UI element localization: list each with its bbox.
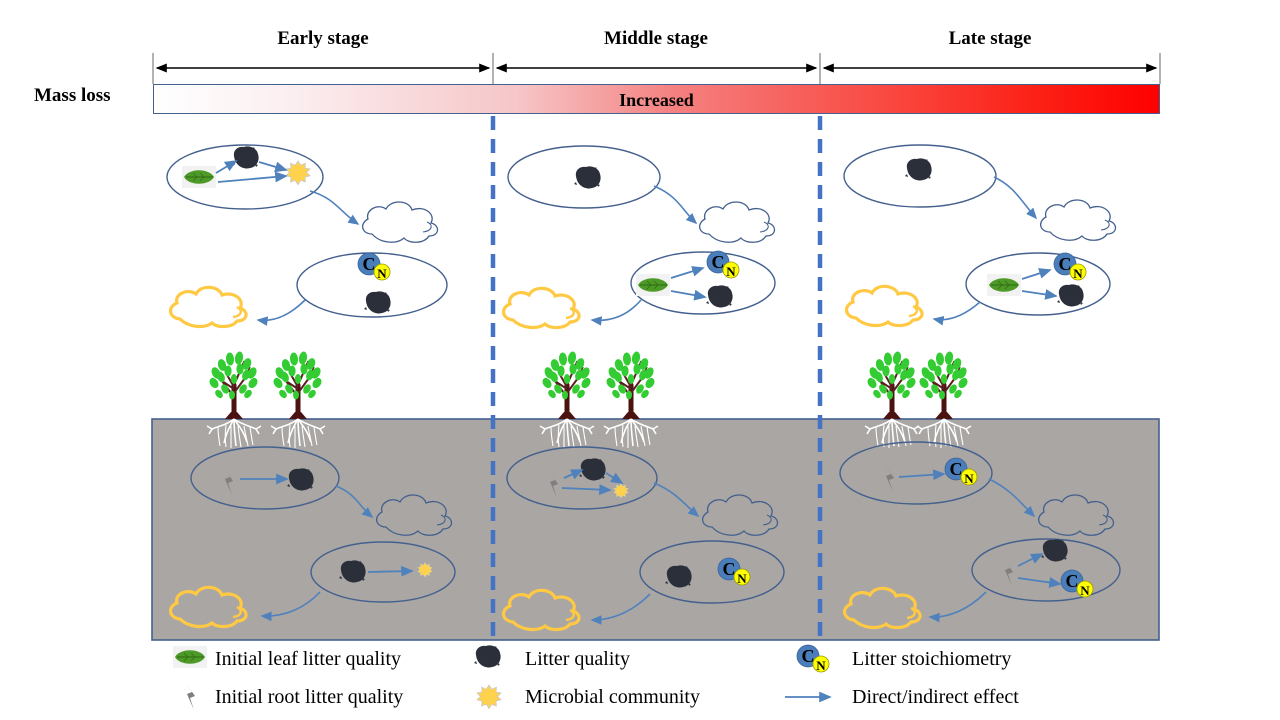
arrow-leaf-to-stoichiometry [671, 268, 703, 278]
microbe-burst-icon [477, 685, 501, 709]
arrow-leaf-to-stoichiometry [1022, 270, 1050, 279]
leaf-icon [636, 274, 670, 296]
litter-blob-icon [905, 158, 932, 180]
figure-root: Early stage Middle stage Late stage Mass… [0, 0, 1280, 720]
root-icon [185, 682, 195, 710]
leaf-icon [987, 274, 1021, 296]
early-above-bottom-ellipse-group [297, 253, 447, 317]
arrow-late-above-bottom-to-nloss [934, 302, 980, 320]
arrow-middle-above-top-to-closs [654, 186, 696, 223]
early-above-top-ellipse-group [167, 145, 323, 209]
cn-stoichiometry-icon [358, 253, 390, 281]
litter-blob-icon [364, 291, 391, 313]
cn-stoichiometry-icon [797, 645, 829, 673]
n-loss-cloud-late-above [847, 286, 923, 325]
c-loss-cloud-late-above [1041, 200, 1116, 240]
arrow-early-above-bottom-to-nloss [258, 300, 305, 320]
arrow-leaf-to-litter [671, 291, 705, 297]
arrow-leaf-to-litter [1022, 291, 1056, 296]
c-loss-cloud-early-above [363, 202, 438, 242]
legend [173, 645, 830, 710]
leaf-icon [182, 166, 216, 188]
litter-blob-icon [1057, 284, 1084, 306]
n-loss-cloud-middle-above [504, 288, 580, 327]
litter-blob-icon [574, 166, 601, 188]
leaf-icon [173, 646, 207, 668]
diagram-canvas: C N [0, 0, 1280, 720]
late-above-top-ellipse-group [844, 145, 996, 207]
arrow-leaf-to-litter [216, 161, 236, 173]
litter-blob-icon [232, 146, 259, 168]
cn-stoichiometry-icon [1054, 253, 1086, 281]
n-loss-cloud-early-above [171, 287, 247, 326]
litter-blob-icon [474, 645, 501, 667]
arrow-early-above-top-to-closs [310, 191, 358, 224]
late-above-bottom-ellipse-group [966, 253, 1110, 315]
arrow-middle-above-bottom-to-nloss [592, 300, 641, 320]
arrow-litter-to-microbe [259, 162, 286, 170]
arrow-late-above-top-to-closs [994, 177, 1036, 218]
arrow-leaf-to-microbe [218, 176, 286, 182]
litter-blob-icon [706, 285, 733, 307]
middle-above-bottom-ellipse-group [631, 251, 775, 314]
stage-range-axis [153, 53, 1160, 84]
c-loss-cloud-middle-above [700, 202, 775, 242]
middle-above-top-ellipse-group [508, 146, 660, 208]
microbe-burst-icon [286, 161, 310, 185]
arrow-litter-to-microbe [368, 571, 412, 572]
